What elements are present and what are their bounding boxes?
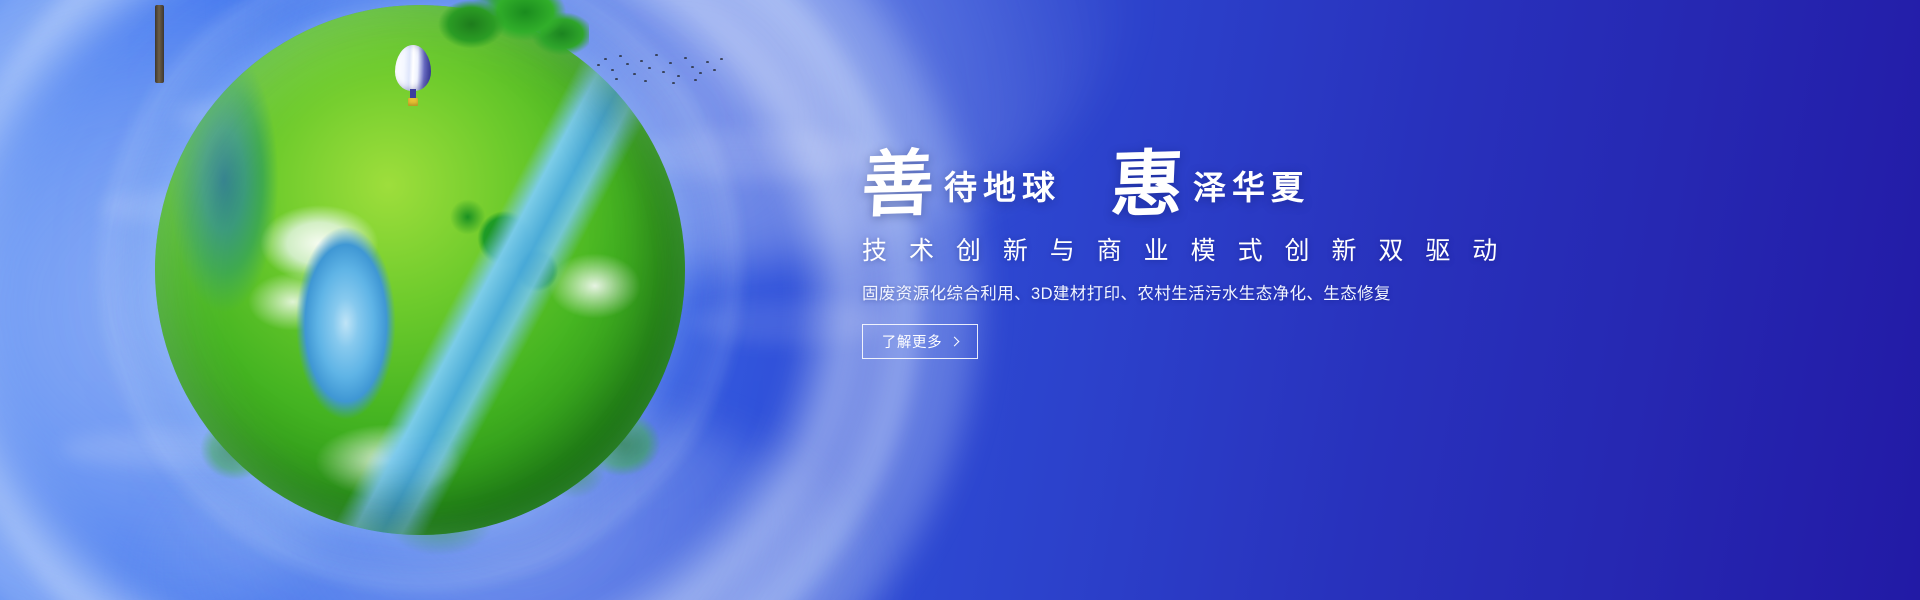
balloon-basket [408, 98, 418, 106]
page-description: 固废资源化综合利用、3D建材打印、农村生活污水生态净化、生态修复 [862, 285, 1722, 305]
learn-more-button[interactable]: 了解更多 [862, 324, 978, 359]
balloon-envelope [395, 45, 431, 91]
bird-flock-icon [595, 52, 725, 88]
headline-text-daidiqiu: 待地球 [938, 173, 1061, 218]
hero-content: 善 待地球 惠 泽华夏 技 术 创 新 与 商 业 模 式 创 新 双 驱 动 … [862, 132, 1722, 359]
page-subtitle: 技 术 创 新 与 商 业 模 式 创 新 双 驱 动 [862, 238, 1722, 266]
hero-banner: 善 待地球 惠 泽华夏 技 术 创 新 与 商 业 模 式 创 新 双 驱 动 … [0, 0, 1920, 600]
headline-char-hui: 惠 [1110, 151, 1189, 219]
cloud-wisp [690, 300, 890, 344]
learn-more-label: 了解更多 [882, 331, 942, 352]
page-title: 善 待地球 惠 泽华夏 [862, 132, 1722, 218]
headline-char-shan: 善 [860, 151, 939, 219]
hot-air-balloon-icon [395, 45, 431, 107]
chevron-right-icon [950, 337, 960, 347]
tree-trunk-icon [155, 5, 164, 83]
headline-text-zehuaxia: 泽华夏 [1187, 173, 1310, 218]
